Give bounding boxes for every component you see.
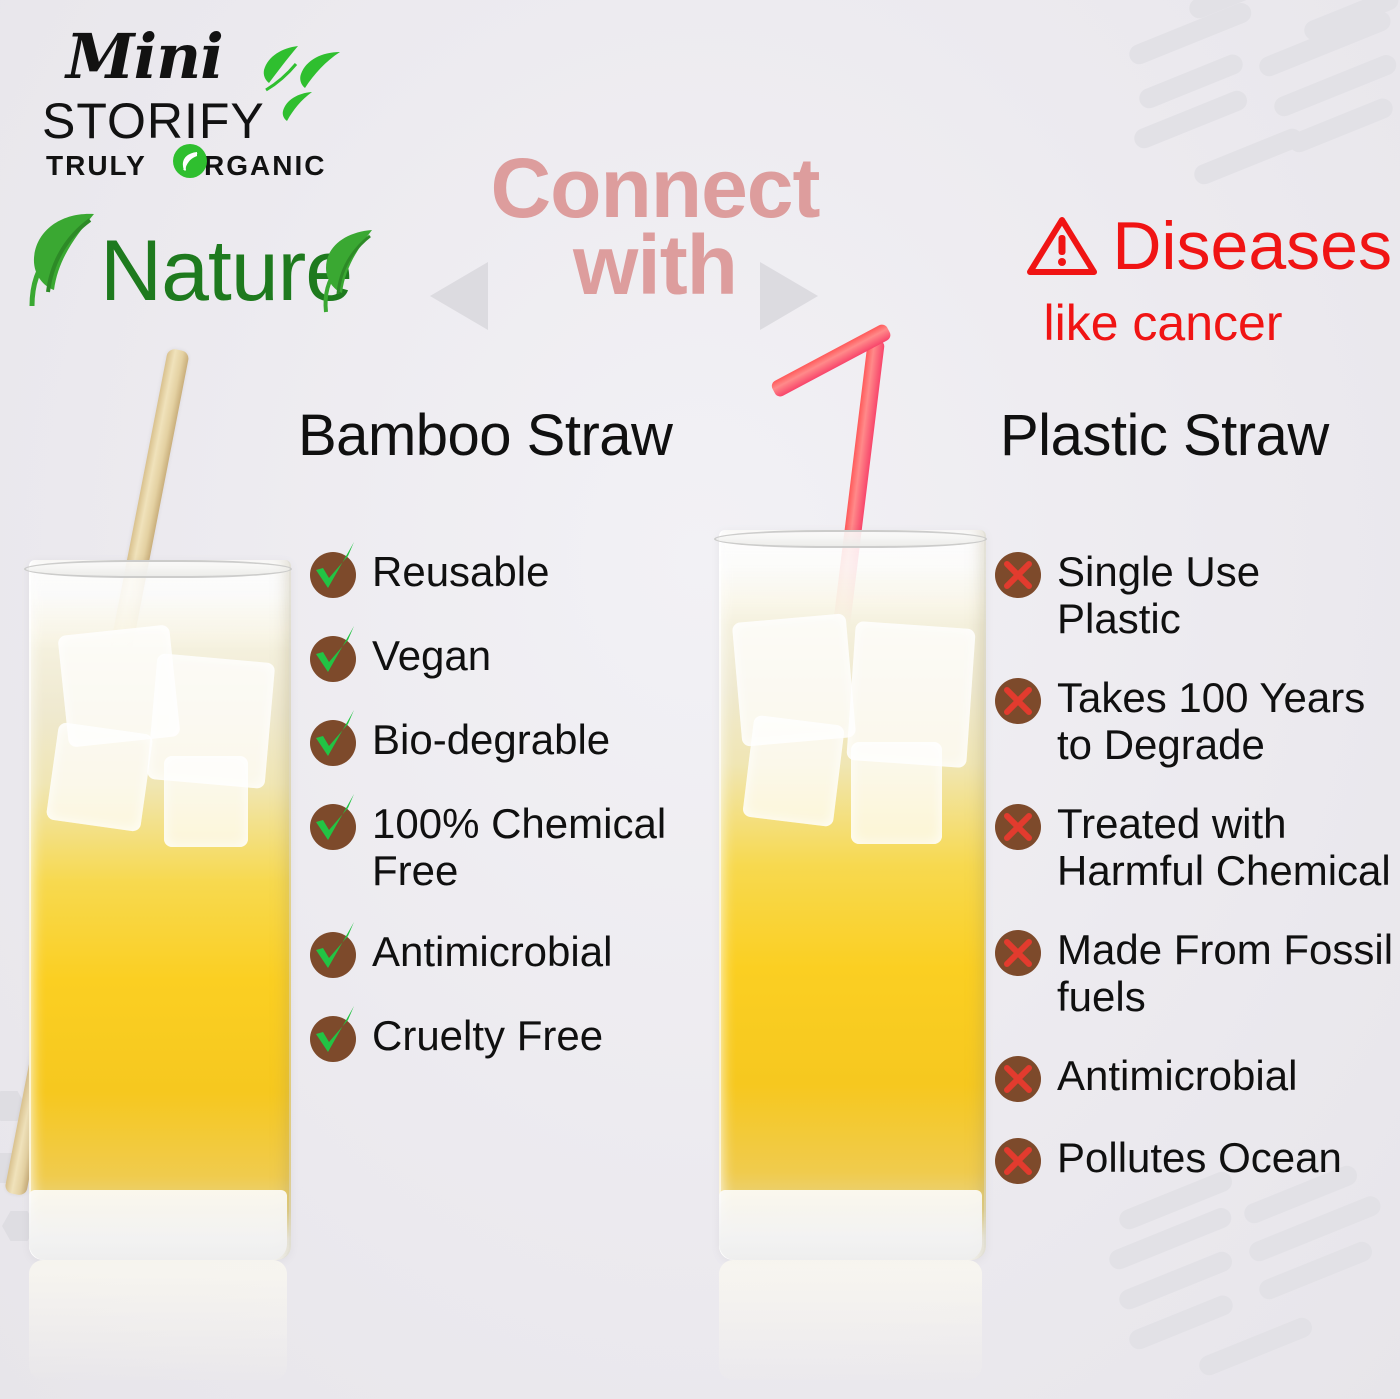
brand-logo: Mini STORIFY TRULY RGANIC	[24, 14, 324, 182]
cross-circle-icon	[995, 930, 1041, 976]
list-item-label: Antimicrobial	[372, 928, 612, 975]
headline-connect-with: Connect with	[420, 150, 890, 305]
list-item-label: Single Use Plastic	[1057, 548, 1395, 642]
logo-script-name: Mini	[66, 20, 223, 93]
cross-circle-icon	[995, 804, 1041, 850]
glass-left	[18, 560, 298, 1260]
list-item: Reusable	[310, 548, 710, 598]
logo-tagline-right: RGANIC	[204, 150, 326, 182]
logo-tagline-left: TRULY	[46, 150, 147, 182]
list-item: Antimicrobial	[995, 1052, 1395, 1102]
right-column-title: Plastic Straw	[1000, 402, 1329, 469]
list-item-label: Pollutes Ocean	[1057, 1134, 1342, 1181]
triangle-right-icon	[760, 262, 818, 330]
cross-circle-icon	[995, 678, 1041, 724]
list-item: Single Use Plastic	[995, 548, 1395, 642]
list-item-label: Made From Fossil fuels	[1057, 926, 1395, 1020]
headline-line-1: Connect	[420, 150, 890, 227]
logo-block-name: STORIFY	[42, 92, 265, 150]
list-item: Pollutes Ocean	[995, 1134, 1395, 1184]
plastic-straw-glass-image	[708, 530, 993, 1260]
list-item-label: Reusable	[372, 548, 549, 595]
check-circle-icon	[310, 1016, 356, 1062]
list-item: 100% Chemical Free	[310, 800, 710, 894]
infographic-canvas: Mini STORIFY TRULY RGANIC Connect with N…	[0, 0, 1400, 1399]
list-item-label: 100% Chemical Free	[372, 800, 710, 894]
organic-leaf-badge-icon	[172, 143, 208, 179]
list-item-label: Vegan	[372, 632, 491, 679]
disease-title: Diseases	[1112, 212, 1392, 280]
check-circle-icon	[310, 552, 356, 598]
plastic-feature-list: Single Use Plastic Takes 100 Years to De…	[995, 548, 1395, 1216]
list-item: Made From Fossil fuels	[995, 926, 1395, 1020]
headline-line-2: with	[420, 227, 890, 304]
disease-subtitle: like cancer	[962, 294, 1392, 352]
diagonal-dash-pattern-bottom-right	[1140, 1209, 1400, 1399]
glass-reflection	[719, 1260, 981, 1380]
cross-circle-icon	[995, 1056, 1041, 1102]
glass-reflection	[29, 1260, 287, 1380]
disease-warning-heading: Diseases like cancer	[962, 212, 1392, 352]
list-item: Takes 100 Years to Degrade	[995, 674, 1395, 768]
list-item-label: Cruelty Free	[372, 1012, 603, 1059]
triangle-left-icon	[430, 262, 488, 330]
check-circle-icon	[310, 636, 356, 682]
bamboo-feature-list: Reusable Vegan Bio-degrable	[310, 548, 710, 1096]
check-circle-icon	[310, 720, 356, 766]
list-item-label: Bio-degrable	[372, 716, 610, 763]
check-circle-icon	[310, 932, 356, 978]
leaf-icon	[314, 226, 388, 314]
nature-heading: Nature	[14, 208, 384, 328]
warning-triangle-icon	[1026, 215, 1098, 277]
list-item: Cruelty Free	[310, 1012, 710, 1062]
list-item: Vegan	[310, 632, 710, 682]
check-circle-icon	[310, 804, 356, 850]
left-column-title: Bamboo Straw	[298, 402, 672, 469]
glass-right	[708, 530, 993, 1260]
list-item: Antimicrobial	[310, 928, 710, 978]
list-item-label: Treated with Harmful Chemical	[1057, 800, 1395, 894]
cross-circle-icon	[995, 552, 1041, 598]
bamboo-straw-glass-image	[18, 560, 298, 1260]
leaf-icon	[252, 42, 344, 128]
list-item-label: Antimicrobial	[1057, 1052, 1297, 1099]
list-item: Bio-degrable	[310, 716, 710, 766]
list-item-label: Takes 100 Years to Degrade	[1057, 674, 1395, 768]
cross-circle-icon	[995, 1138, 1041, 1184]
list-item: Treated with Harmful Chemical	[995, 800, 1395, 894]
diagonal-dash-pattern-top-right	[1140, 8, 1400, 218]
